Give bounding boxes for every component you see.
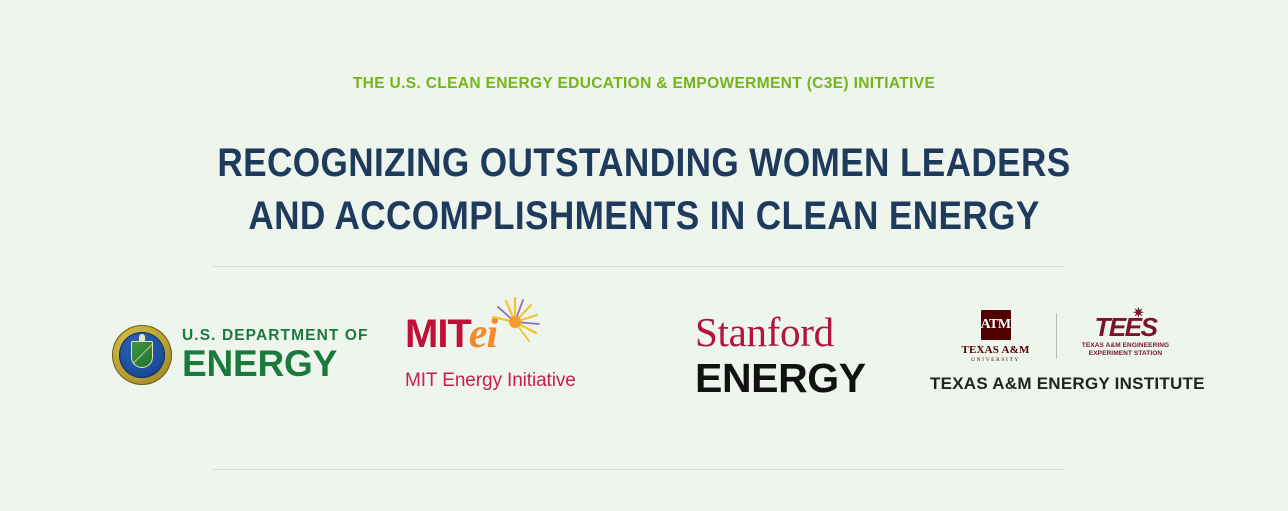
logo-department-of-energy[interactable]: U.S. DEPARTMENT OF ENERGY — [112, 296, 362, 414]
tamu-logo-pair: ATM TEXAS A&M UNIVERSITY ✷ TEES TEXAS A&… — [930, 308, 1200, 364]
tamu-energy-institute-caption: TEXAS A&M ENERGY INSTITUTE — [930, 374, 1200, 394]
mitei-mit-label: MIT — [405, 312, 471, 356]
doe-energy-label: ENERGY — [182, 345, 369, 382]
tees-subtitle-line-1: TEXAS A&M ENGINEERING — [1082, 342, 1169, 350]
tamu-university-name: TEXAS A&M — [961, 344, 1029, 356]
logo-mit-energy-initiative[interactable]: MITei — [405, 296, 625, 414]
page-title-line-2: AND ACCOMPLISHMENTS IN CLEAN ENERGY — [77, 190, 1210, 243]
divider-top — [213, 266, 1065, 267]
stanford-label: Stanford — [695, 310, 895, 354]
doe-department-label: U.S. DEPARTMENT OF — [182, 328, 369, 344]
divider-bottom — [213, 469, 1065, 470]
stanford-energy-label: ENERGY — [695, 356, 895, 400]
logo-texas-am-energy-institute[interactable]: ATM TEXAS A&M UNIVERSITY ✷ TEES TEXAS A&… — [930, 296, 1200, 426]
mitei-wordmark: MITei — [405, 296, 625, 366]
page-title: RECOGNIZING OUTSTANDING WOMEN LEADERS AN… — [77, 137, 1210, 243]
tamu-vertical-divider — [1056, 313, 1057, 359]
tees-wordmark-label: TEES — [1095, 312, 1157, 342]
partner-logo-row: U.S. DEPARTMENT OF ENERGY MITei — [100, 296, 1200, 414]
page-title-line-1: RECOGNIZING OUTSTANDING WOMEN LEADERS — [77, 137, 1210, 190]
doe-wordmark: U.S. DEPARTMENT OF ENERGY — [182, 328, 369, 383]
doe-shield-icon — [131, 341, 153, 368]
tees-wordmark: ✷ TEES — [1095, 314, 1157, 340]
mitei-sunburst-icon — [489, 296, 541, 348]
banner-page: THE U.S. CLEAN ENERGY EDUCATION & EMPOWE… — [0, 0, 1288, 511]
logo-stanford-energy[interactable]: Stanford ENERGY — [695, 296, 895, 428]
tees-star-icon: ✷ — [1133, 306, 1142, 319]
tees-subtitle-line-2: EXPERIMENT STATION — [1082, 350, 1169, 358]
tamu-shield-icon: ATM — [981, 310, 1011, 340]
mitei-subtitle: MIT Energy Initiative — [405, 370, 625, 392]
tamu-university-mark: ATM TEXAS A&M UNIVERSITY — [950, 310, 1042, 363]
tamu-university-sub: UNIVERSITY — [971, 357, 1020, 363]
tees-mark: ✷ TEES TEXAS A&M ENGINEERING EXPERIMENT … — [1071, 314, 1181, 358]
eyebrow-text: THE U.S. CLEAN ENERGY EDUCATION & EMPOWE… — [0, 74, 1288, 94]
tees-subtitle: TEXAS A&M ENGINEERING EXPERIMENT STATION — [1082, 342, 1169, 358]
doe-seal-icon — [112, 325, 172, 385]
